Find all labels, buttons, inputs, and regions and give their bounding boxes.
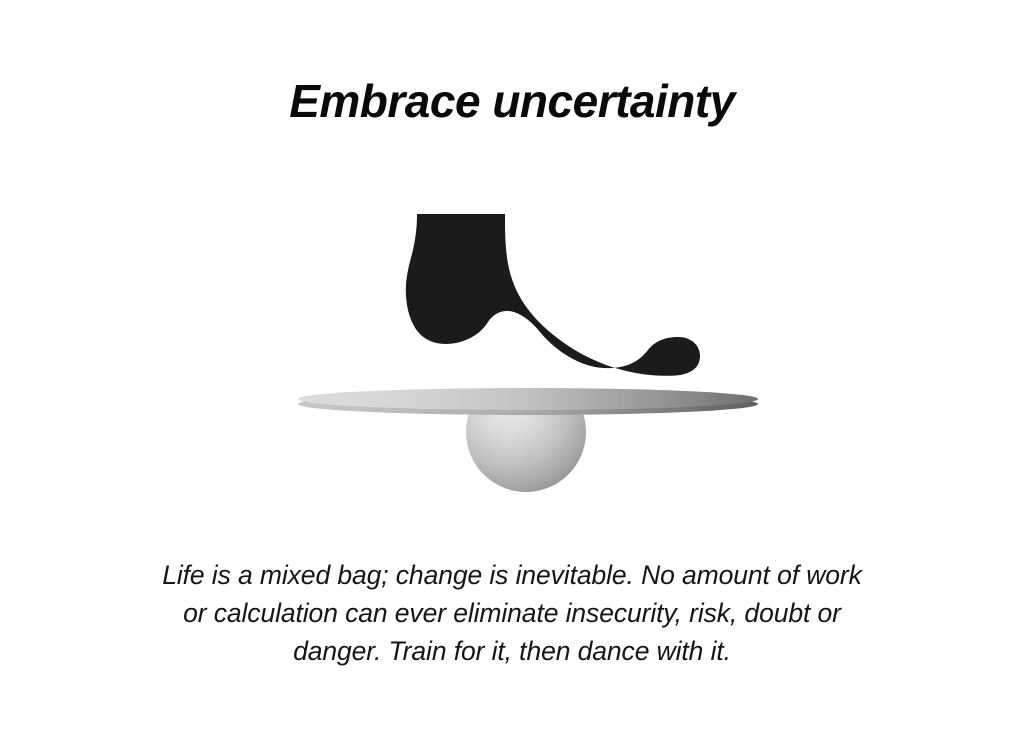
- slide-canvas: Embrace uncertainty: [0, 0, 1024, 748]
- caption-text: Life is a mixed bag; change is inevitabl…: [152, 556, 872, 670]
- balance-board-group: [298, 388, 758, 415]
- foot-silhouette: [406, 214, 700, 376]
- illustration-foot-balance-board: [0, 190, 1024, 510]
- balance-board: [298, 388, 758, 410]
- page-title: Embrace uncertainty: [0, 78, 1024, 124]
